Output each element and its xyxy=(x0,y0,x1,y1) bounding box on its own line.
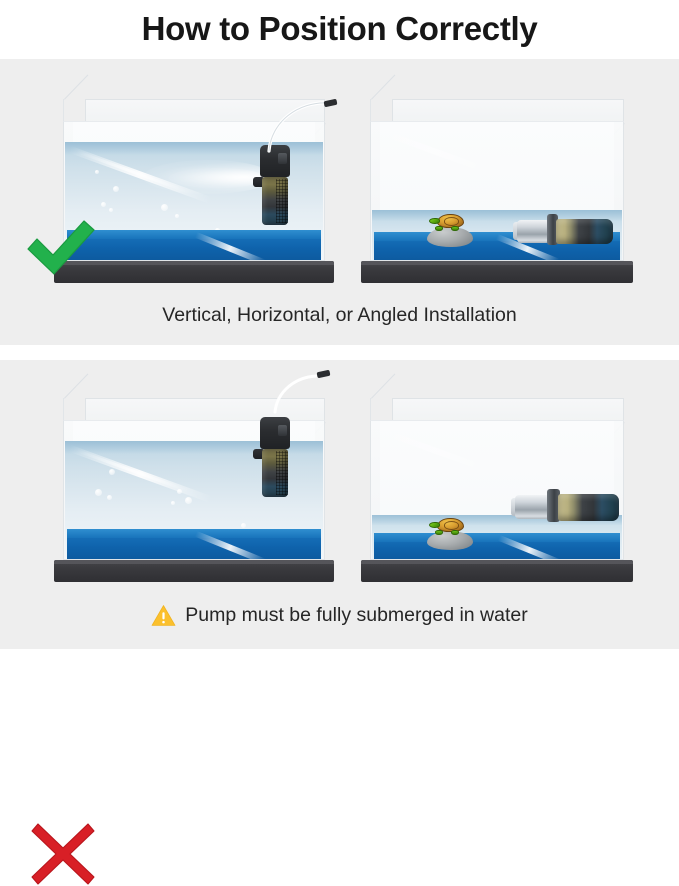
green-check-icon xyxy=(24,217,98,283)
pump-intake-mesh xyxy=(276,179,287,224)
tank-base xyxy=(54,560,334,582)
tank-incorrect-horizontal xyxy=(370,398,624,582)
bubble xyxy=(109,208,113,212)
bubble xyxy=(107,495,112,500)
tank-glass xyxy=(63,121,325,261)
tank-incorrect-vertical xyxy=(63,398,325,582)
tank-back-face xyxy=(85,99,325,123)
warning-triangle-icon xyxy=(151,604,176,627)
turtle xyxy=(429,214,467,231)
caption-correct: Vertical, Horizontal, or Angled Installa… xyxy=(0,300,679,330)
air-hose-clip xyxy=(317,370,331,379)
pump-intake-mesh xyxy=(276,451,287,496)
turtle-head xyxy=(429,522,440,528)
tank-glass xyxy=(63,420,325,560)
pump-body xyxy=(556,219,613,245)
tank-glass xyxy=(370,420,624,560)
tank-base-top xyxy=(361,560,633,564)
pump-body xyxy=(558,494,619,522)
bubble xyxy=(175,214,179,218)
pump-horizontal-exposed xyxy=(515,493,619,523)
page-title: How to Position Correctly xyxy=(0,0,679,58)
tank-base-top xyxy=(361,261,633,265)
bubble xyxy=(109,469,115,475)
bubble xyxy=(241,523,246,528)
caption-incorrect-text: Pump must be fully submerged in water xyxy=(185,604,528,627)
pump-vertical-exposed xyxy=(260,417,290,497)
tank-correct-horizontal xyxy=(370,99,624,283)
pump-motor xyxy=(517,220,550,242)
pump-motor-head xyxy=(260,145,290,177)
tank-back-face xyxy=(392,99,624,123)
substrate-top xyxy=(67,529,321,538)
bubble xyxy=(95,170,99,174)
turtle-leg xyxy=(451,530,459,535)
tank-base-top xyxy=(54,560,334,564)
pump-vertical xyxy=(260,145,290,225)
pump-horizontal xyxy=(517,218,613,246)
bubble xyxy=(95,489,102,496)
caption-incorrect: Pump must be fully submerged in water xyxy=(0,600,679,630)
substrate xyxy=(374,533,620,559)
bubble xyxy=(177,489,182,494)
turtle xyxy=(429,518,467,535)
red-cross-icon xyxy=(30,822,96,886)
bubble xyxy=(113,186,119,192)
tank-correct-vertical xyxy=(63,99,325,283)
turtle-leg xyxy=(435,226,443,231)
tank-back-face xyxy=(392,398,624,422)
substrate-top xyxy=(374,533,620,542)
air-hose-clip xyxy=(324,99,338,108)
turtle-leg xyxy=(435,530,443,535)
tank-glass xyxy=(370,121,624,261)
substrate-top xyxy=(67,230,321,239)
bubble xyxy=(161,204,168,211)
glass-reflection xyxy=(76,449,190,493)
bubble xyxy=(185,497,192,504)
caption-correct-text: Vertical, Horizontal, or Angled Installa… xyxy=(162,304,516,327)
bubble xyxy=(171,501,175,505)
substrate xyxy=(67,529,321,559)
instruction-graphic: How to Position Correctly xyxy=(0,0,679,649)
turtle-head xyxy=(429,218,440,224)
pump-motor xyxy=(515,495,550,519)
pump-motor-head xyxy=(260,417,290,449)
turtle-leg xyxy=(451,226,459,231)
substrate xyxy=(67,230,321,260)
bubble xyxy=(101,202,106,207)
tank-base xyxy=(361,261,633,283)
bubble-spray xyxy=(169,168,265,188)
tank-base xyxy=(361,560,633,582)
glass-reflection xyxy=(76,150,190,194)
